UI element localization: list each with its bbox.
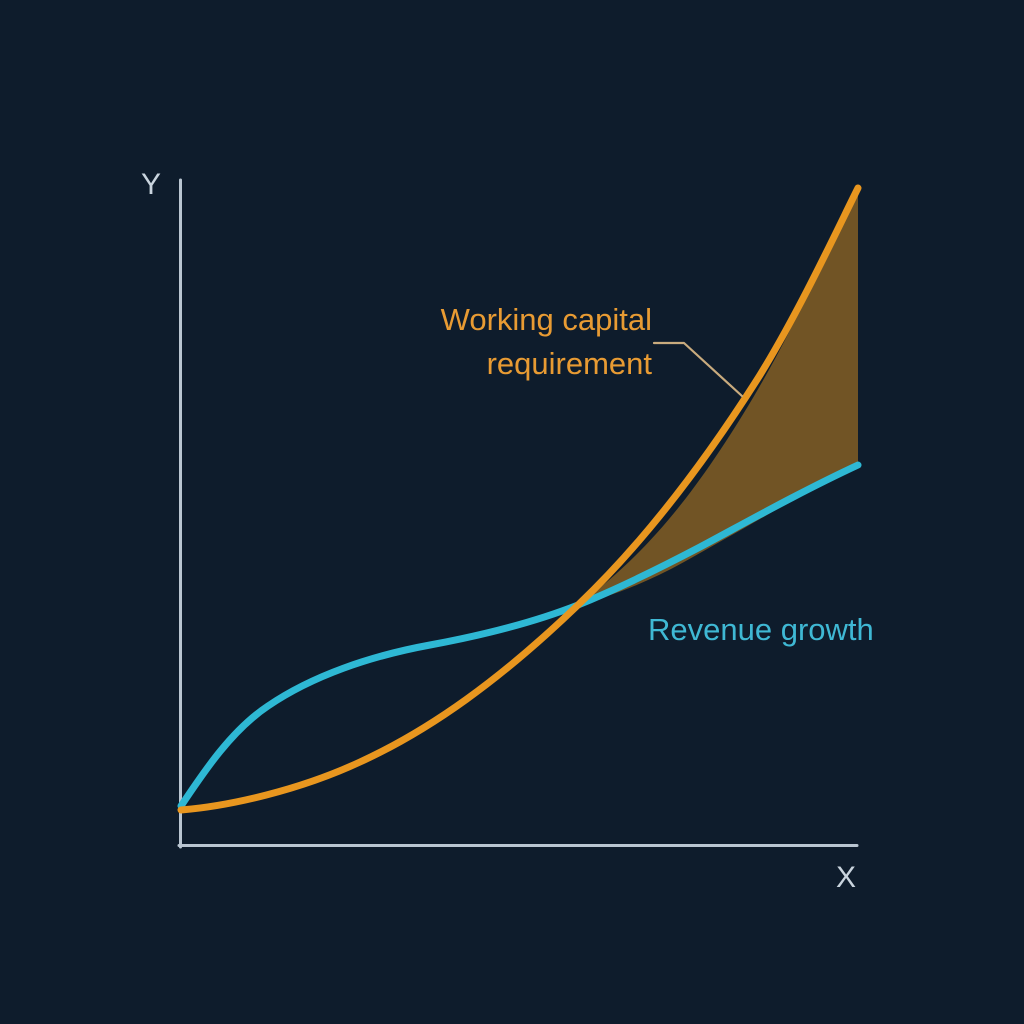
y-axis-label: Y: [141, 168, 161, 201]
gap-area-fill: [578, 188, 858, 605]
working-capital-leader-line: [654, 343, 742, 396]
revenue-growth-label: Revenue growth: [648, 612, 874, 647]
chart-canvas: Working capital requirement Revenue grow…: [0, 0, 1024, 1024]
working-capital-label-line1: Working capital: [441, 302, 652, 337]
working-capital-label-line2: requirement: [487, 346, 653, 381]
x-axis-label: X: [836, 861, 856, 894]
line-chart: Working capital requirement Revenue grow…: [0, 0, 1024, 1024]
